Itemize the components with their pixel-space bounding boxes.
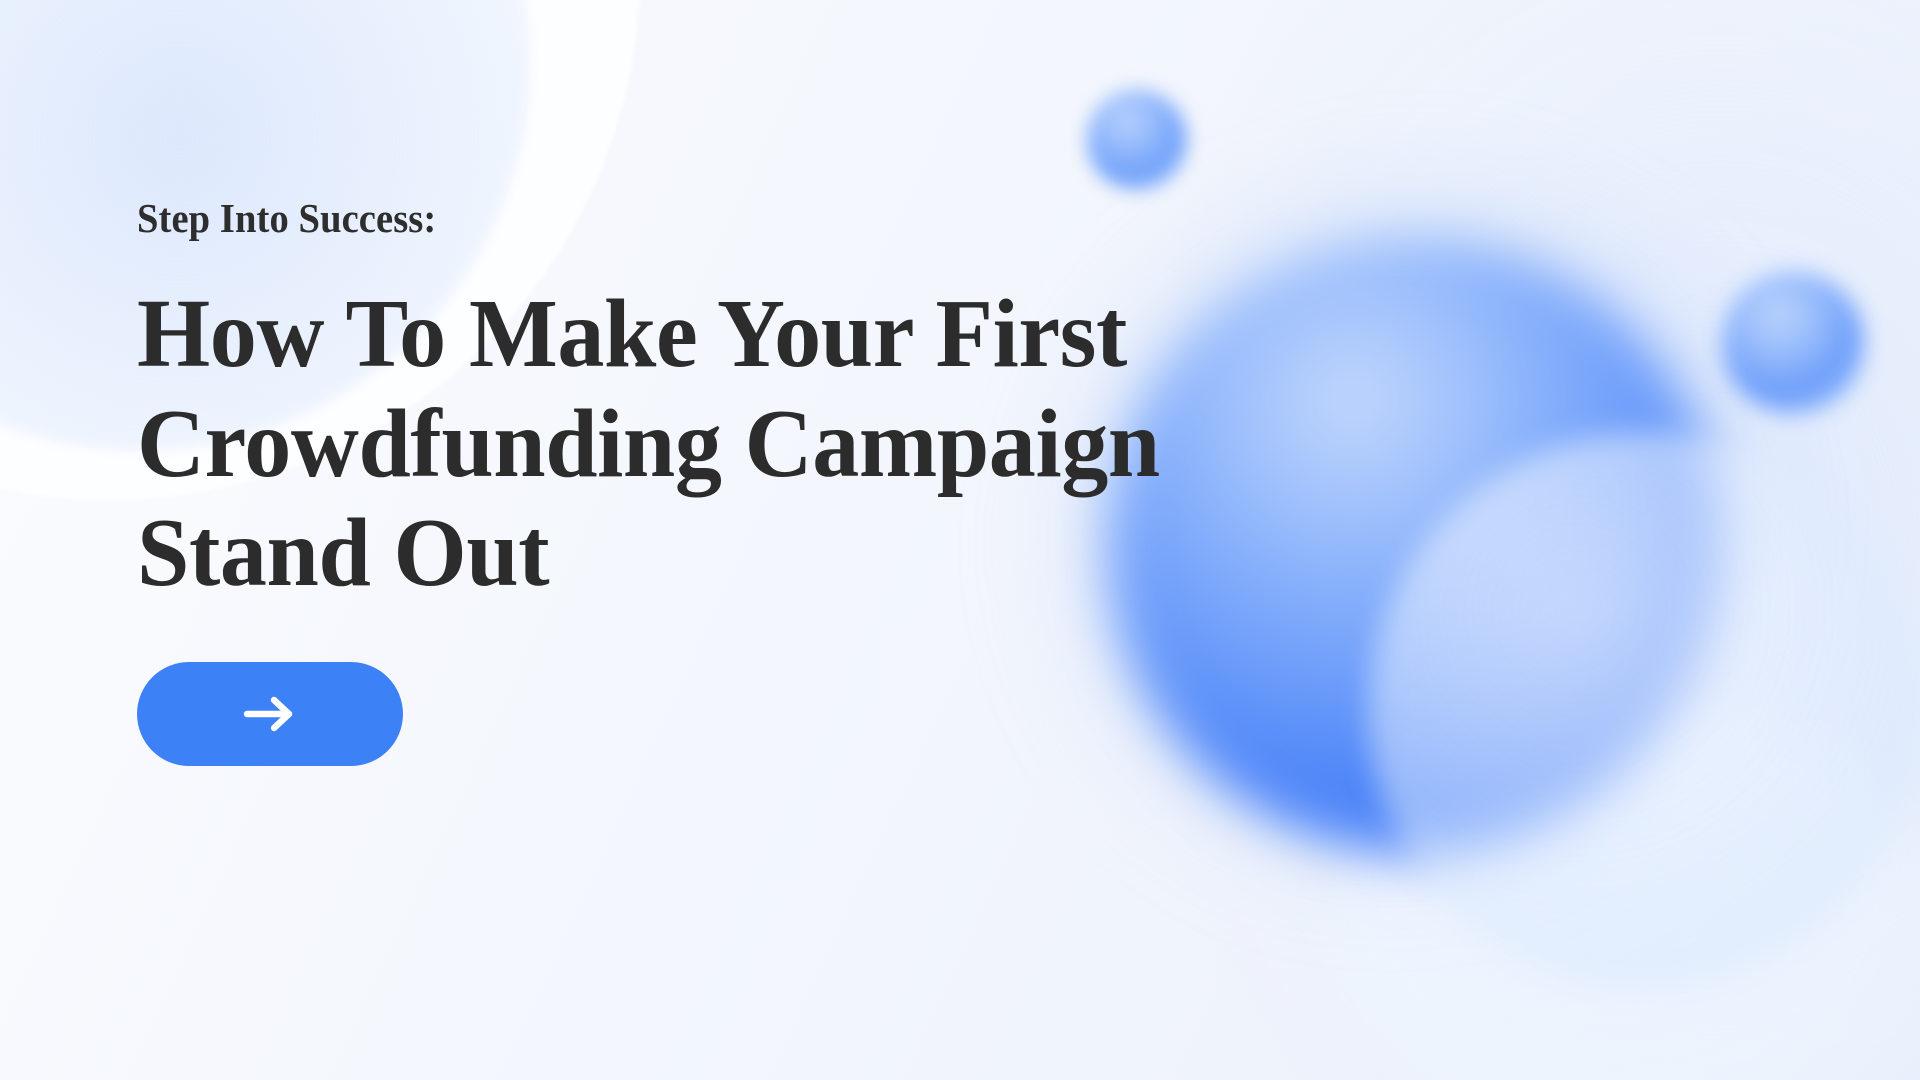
sphere-small-top xyxy=(1087,90,1187,190)
headline-line-3: Stand Out xyxy=(137,498,1495,608)
headline-line-1: How To Make Your First xyxy=(137,279,1495,389)
sphere-medium-right xyxy=(1722,272,1864,414)
headline-line-2: Crowdfunding Campaign xyxy=(137,389,1495,499)
hero-banner: Step Into Success: How To Make Your Firs… xyxy=(0,0,1920,1080)
arrow-right-icon xyxy=(241,694,299,734)
eyebrow-text: Step Into Success: xyxy=(137,196,1453,241)
read-more-button[interactable] xyxy=(137,662,403,766)
page-title: How To Make Your First Crowdfunding Camp… xyxy=(137,279,1495,608)
hero-content: Step Into Success: How To Make Your Firs… xyxy=(137,196,1537,766)
